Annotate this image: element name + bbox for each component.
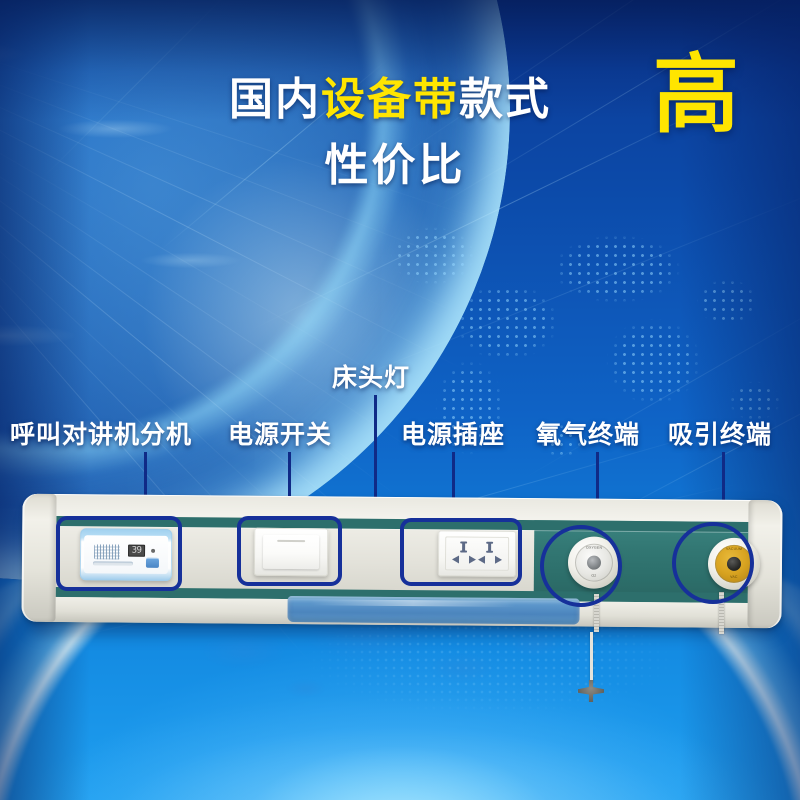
headline-seg-4: 性价比 (325, 141, 466, 190)
headline-seg-3: 款式 (459, 75, 551, 124)
promo-banner: 国内设备带款式 性价比 高 呼叫对讲机分机 电源开关 床头灯 电源插座 氧气终端… (0, 0, 800, 800)
headline-seg-2: 设备带 (321, 75, 459, 124)
callout-circle-suction (672, 522, 754, 604)
label-power-socket: 电源插座 (401, 415, 505, 451)
label-oxygen-terminal: 氧气终端 (536, 415, 640, 451)
headline-line-2: 性价比 高 (0, 144, 800, 188)
headline-seg-1: 国内 (229, 75, 321, 124)
callout-circle-oxygen (540, 525, 622, 607)
callout-box-power-socket (400, 518, 522, 586)
headline-block: 国内设备带款式 性价比 高 (0, 78, 800, 188)
callout-box-intercom (56, 516, 182, 591)
callout-box-power-switch (237, 516, 342, 586)
label-intercom-extension: 呼叫对讲机分机 (10, 415, 192, 451)
pull-cord-line[interactable] (590, 632, 593, 684)
label-power-switch: 电源开关 (228, 415, 332, 451)
panel-endcap-left (21, 494, 56, 622)
label-suction-terminal: 吸引终端 (668, 415, 772, 451)
bed-lamp-diffuser (287, 596, 579, 625)
headline-emphasis: 高 (653, 52, 742, 138)
label-bed-head-lamp: 床头灯 (332, 358, 410, 394)
